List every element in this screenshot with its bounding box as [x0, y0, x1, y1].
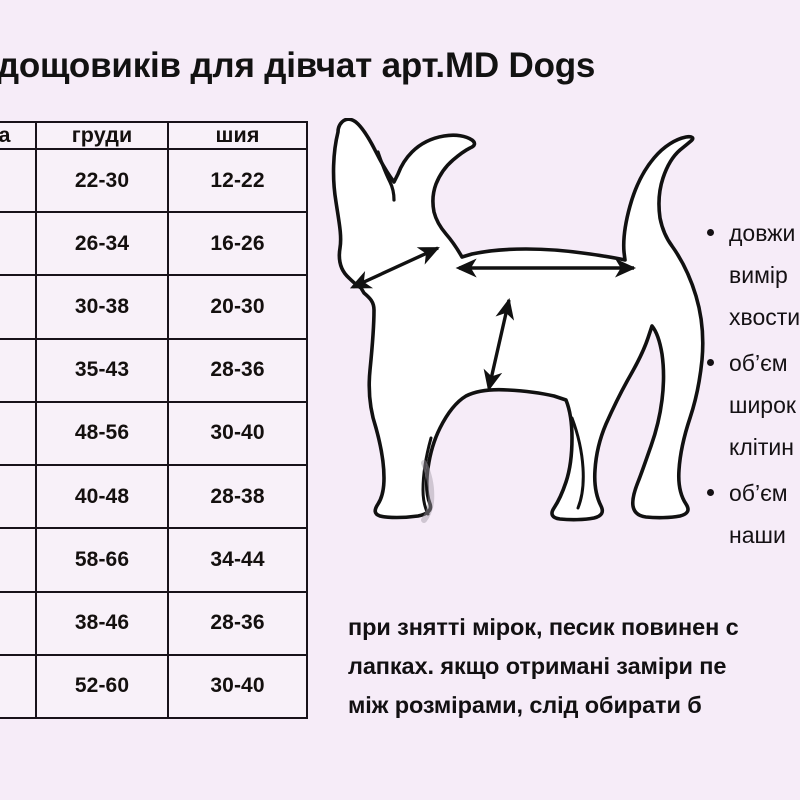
list-item: об’єм широк клітин: [703, 342, 800, 468]
cell-length: [0, 528, 36, 591]
table-row: 38-46 28-36: [0, 592, 307, 655]
measurement-notes-list: довжи вимір хвости об’єм широк клітин об…: [703, 212, 800, 560]
cell-neck: 28-36: [168, 339, 307, 402]
table-row: 58-66 34-44: [0, 528, 307, 591]
cell-neck: 12-22: [168, 149, 307, 212]
cell-chest: 40-48: [36, 465, 168, 528]
table-row: 26-34 16-26: [0, 212, 307, 275]
page-title: и дощовиків для дівчат арт.MD Dogs: [0, 44, 800, 88]
table-header-row: а груди шия: [0, 122, 307, 149]
cell-chest: 30-38: [36, 275, 168, 338]
cell-length: [0, 655, 36, 718]
cell-chest: 26-34: [36, 212, 168, 275]
cell-length: [0, 402, 36, 465]
column-header-neck: шия: [168, 122, 307, 149]
table-row: 52-60 30-40: [0, 655, 307, 718]
cell-length: [0, 149, 36, 212]
size-chart-page: и дощовиків для дівчат арт.MD Dogs а гру…: [0, 0, 800, 800]
column-header-chest: груди: [36, 122, 168, 149]
table-row: 40-48 28-38: [0, 465, 307, 528]
cell-chest: 35-43: [36, 339, 168, 402]
footer-instruction-text: при знятті мірок, песик повинен с лапках…: [348, 608, 800, 725]
size-table: а груди шия 22-30 12-22 26-34 16-26: [0, 121, 308, 719]
cell-neck: 30-40: [168, 402, 307, 465]
cell-neck: 20-30: [168, 275, 307, 338]
list-item: об’єм наши: [703, 472, 800, 556]
cell-length: [0, 465, 36, 528]
size-table-container: а груди шия 22-30 12-22 26-34 16-26: [0, 121, 306, 719]
table-row: 35-43 28-36: [0, 339, 307, 402]
cell-length: [0, 275, 36, 338]
cell-neck: 16-26: [168, 212, 307, 275]
cell-length: [0, 339, 36, 402]
list-item: довжи вимір хвости: [703, 212, 800, 338]
cell-neck: 34-44: [168, 528, 307, 591]
dog-measurement-diagram: [326, 118, 718, 530]
cell-chest: 52-60: [36, 655, 168, 718]
cell-chest: 58-66: [36, 528, 168, 591]
cell-length: [0, 592, 36, 655]
cell-chest: 22-30: [36, 149, 168, 212]
column-header-length: а: [0, 122, 36, 149]
table-row: 30-38 20-30: [0, 275, 307, 338]
cell-neck: 28-36: [168, 592, 307, 655]
cell-neck: 30-40: [168, 655, 307, 718]
cell-length: [0, 212, 36, 275]
table-row: 48-56 30-40: [0, 402, 307, 465]
cell-chest: 38-46: [36, 592, 168, 655]
cell-chest: 48-56: [36, 402, 168, 465]
table-row: 22-30 12-22: [0, 149, 307, 212]
cell-neck: 28-38: [168, 465, 307, 528]
